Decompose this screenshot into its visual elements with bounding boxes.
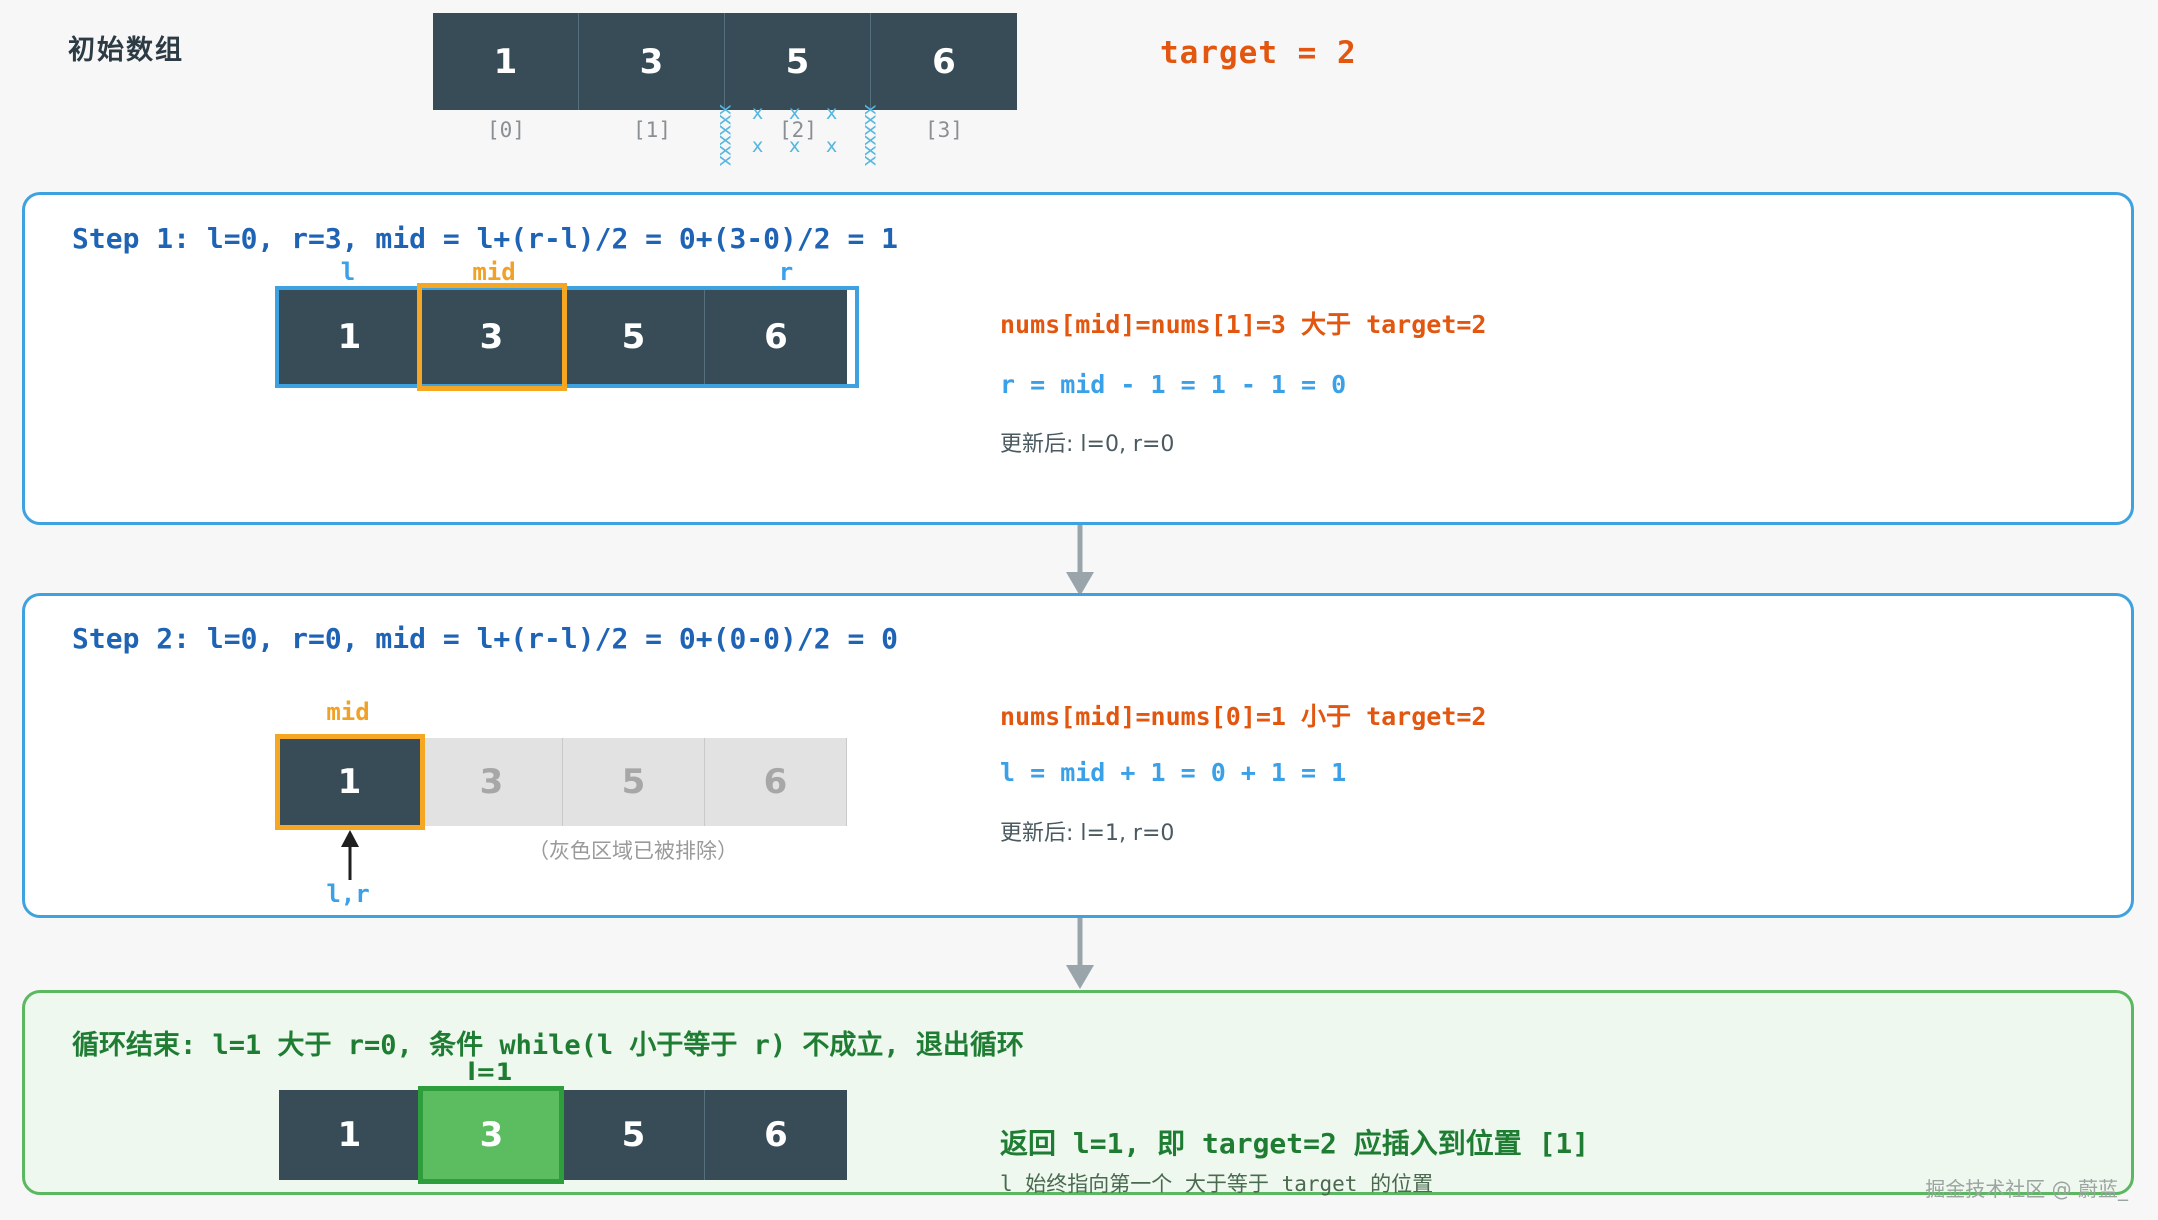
final-pointer-l: l=1 [417,1058,563,1086]
x-pattern-artifact-e: x [789,137,800,156]
final-cell-0: 1 [279,1090,421,1180]
diagram-canvas: 初始数组 target = 2 1 3 5 6 [0] [1] [2] [3] … [0,0,2158,1220]
x-pattern-artifact-b: x [789,104,800,123]
final-title: 循环结束: l=1 大于 r=0, 条件 while(l 小于等于 r) 不成立… [72,1023,1024,1062]
initial-array: 1 3 5 6 [433,13,1017,110]
x-pattern-artifact-f: x [826,137,837,156]
step2-cell-1: 3 [421,738,563,826]
step1-cell-0: 1 [279,290,421,384]
step2-cell-2: 5 [563,738,705,826]
step1-array: 1 3 5 6 [279,290,847,384]
index-label-0: [0] [433,118,579,142]
step1-pointer-r: r [713,258,859,286]
step2-pointer-lr: l,r [275,880,421,908]
step2-title: Step 2: l=0, r=0, mid = l+(r-l)/2 = 0+(0… [72,622,898,655]
step2-array: 1 3 5 6 [279,738,847,826]
step2-cell-3: 6 [705,738,847,826]
step1-cell-2: 5 [563,290,705,384]
initial-array-label: 初始数组 [68,28,184,67]
final-cell-2: 5 [563,1090,705,1180]
final-cell-1: 3 [421,1090,563,1180]
index-label-1: [1] [579,118,725,142]
final-array: 1 3 5 6 [279,1090,847,1180]
array-cell-0: 1 [433,13,579,110]
step1-pointer-mid: mid [421,258,567,286]
step2-cell-0: 1 [279,738,421,826]
step2-after-text: 更新后: l=1, r=0 [1000,815,1174,847]
step1-update-expr: r = mid - 1 = 1 - 1 = 0 [1000,370,1346,399]
step2-lr-arrow [330,830,370,884]
final-cell-3: 6 [705,1090,847,1180]
step1-title: Step 1: l=0, r=3, mid = l+(r-l)/2 = 0+(3… [72,222,898,255]
step2-pointer-mid: mid [275,698,421,726]
final-result-sub: l 始终指向第一个 大于等于 target 的位置 [1000,1168,1433,1198]
array-cell-1: 3 [579,13,725,110]
x-pattern-artifact-d: x [752,137,763,156]
step1-cell-1: 3 [421,290,563,384]
x-pattern-artifact-a: x [752,104,763,123]
step1-cell-3: 6 [705,290,847,384]
index-label-3: [3] [871,118,1017,142]
step2-update-expr: l = mid + 1 = 0 + 1 = 1 [1000,758,1346,787]
final-result-main: 返回 l=1, 即 target=2 应插入到位置 [1] [1000,1122,1589,1162]
step1-compare-text: nums[mid]=nums[1]=3 大于 target=2 [1000,305,1487,341]
connector-arrow-2 [1055,918,1105,995]
step2-excluded-note: （灰色区域已被排除） [528,835,738,865]
step2-compare-text: nums[mid]=nums[0]=1 小于 target=2 [1000,697,1487,733]
x-pattern-artifact-left: xxxxxx [719,104,731,146]
array-cell-3: 6 [871,13,1017,110]
x-pattern-artifact-c: x [826,104,837,123]
array-cell-2: 5 [725,13,871,110]
watermark: 掘金技术社区 @ 蔚蓝_ [1925,1173,2128,1202]
step1-after-text: 更新后: l=0, r=0 [1000,426,1174,458]
target-value-text: target = 2 [1160,35,1357,71]
x-pattern-artifact-right: xxxxxx [864,104,876,146]
step1-pointer-l: l [275,258,421,286]
connector-arrow-1 [1055,525,1105,602]
